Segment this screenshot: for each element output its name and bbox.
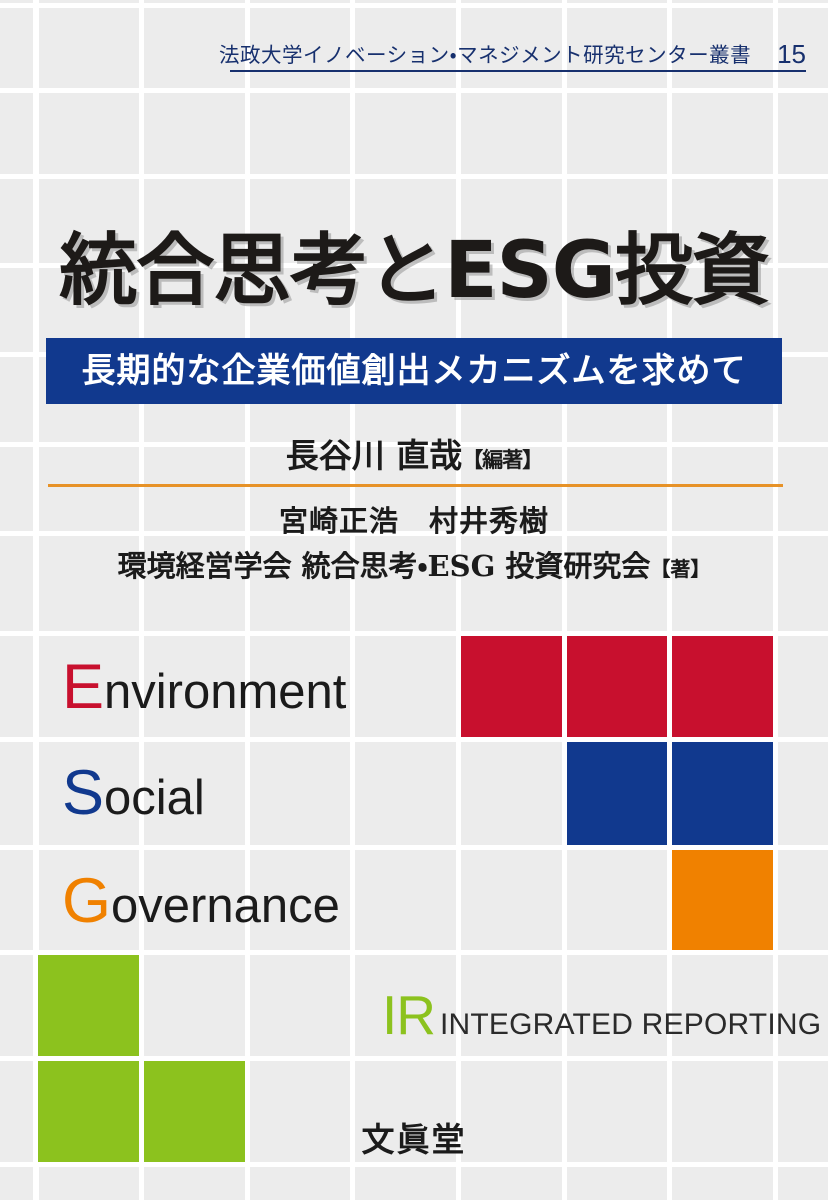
ir-logo: IR INTEGRATED REPORTING (382, 988, 821, 1043)
esg-word-social: ocial (104, 771, 205, 825)
tile-social-blue-1 (567, 742, 667, 845)
tile-social-blue-2 (672, 742, 773, 845)
series-header: 法政大学イノベーション・マネジメント研究センター叢書 15 (230, 28, 806, 72)
editor-role: 【編著】 (462, 447, 542, 472)
series-number: 15 (777, 41, 806, 72)
editor-name: 長谷川 直哉 (286, 436, 463, 475)
tile-environment-red-1 (461, 636, 562, 737)
subtitle-text: 長期的な企業価値創出メカニズムを求めて (82, 354, 747, 388)
esg-row-social: Social (62, 762, 205, 825)
tile-governance-orange-1 (672, 850, 773, 950)
grid-hline (0, 3, 828, 8)
esg-row-environment: Environment (62, 656, 346, 719)
credits-divider (48, 484, 783, 487)
society-name: 環境経営学会 統合思考・ESG 投資研究会 (118, 549, 651, 583)
ir-mark: IR (382, 988, 435, 1043)
esg-word-environment: nvironment (104, 665, 346, 719)
esg-initial-e: E (62, 652, 104, 722)
grid-vline (245, 0, 250, 1200)
esg-initial-g: G (62, 866, 111, 936)
page-title: 統合思考とESG投資 (0, 232, 828, 310)
society-line: 環境経営学会 統合思考・ESG 投資研究会【著】 (0, 543, 828, 585)
series-title: 法政大学イノベーション・マネジメント研究センター叢書 (219, 46, 751, 73)
society-role: 【著】 (650, 557, 710, 581)
grid-hline (0, 174, 828, 179)
tile-environment-red-2 (567, 636, 667, 737)
series-underline (230, 70, 806, 72)
book-cover: 法政大学イノベーション・マネジメント研究センター叢書 15 統合思考とESG投資… (0, 0, 828, 1200)
ir-wordmark: INTEGRATED REPORTING (440, 1010, 821, 1040)
publisher-name: 文眞堂 (0, 1113, 828, 1161)
esg-word-governance: overnance (111, 879, 340, 933)
editor-line: 長谷川 直哉【編著】 (0, 429, 828, 477)
esg-row-governance: Governance (62, 870, 340, 933)
authors-line: 宮崎正浩 村井秀樹 (0, 498, 828, 540)
grid-hline (0, 88, 828, 93)
grid-hline (0, 1162, 828, 1167)
grid-vline (350, 0, 355, 1200)
tile-ir-green-1 (38, 955, 139, 1056)
esg-initial-s: S (62, 758, 104, 828)
grid-vline (139, 0, 144, 1200)
tile-environment-red-3 (672, 636, 773, 737)
subtitle-band: 長期的な企業価値創出メカニズムを求めて (46, 338, 782, 404)
